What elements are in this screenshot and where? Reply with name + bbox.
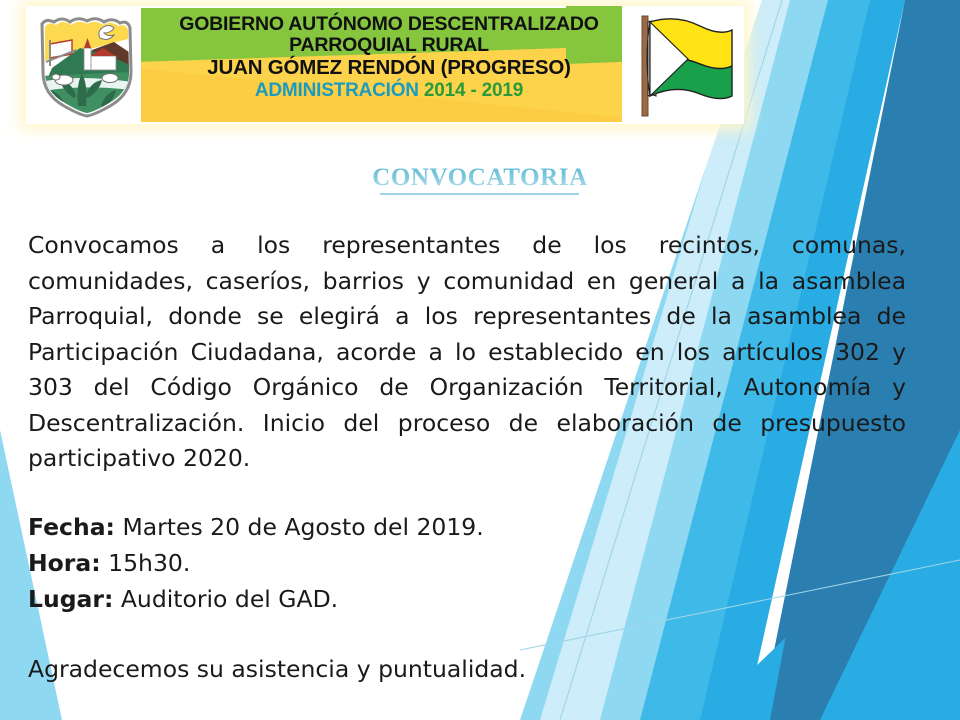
- convocation-paragraph: Convocamos a los representantes de los r…: [28, 228, 906, 477]
- detail-label-fecha: Fecha:: [28, 513, 115, 541]
- closing-line: Agradecemos su asistencia y puntualidad.: [28, 652, 728, 686]
- detail-row-lugar: Lugar: Auditorio del GAD.: [28, 581, 728, 617]
- detail-label-hora: Hora:: [28, 549, 101, 577]
- page-title: CONVOCATORIA: [0, 164, 960, 192]
- event-details: Fecha: Martes 20 de Agosto del 2019. Hor…: [28, 509, 728, 617]
- detail-value-lugar: Auditorio del GAD.: [121, 585, 338, 613]
- detail-label-lugar: Lugar:: [28, 585, 113, 613]
- detail-row-hora: Hora: 15h30.: [28, 545, 728, 581]
- detail-value-hora: 15h30.: [108, 549, 190, 577]
- detail-row-fecha: Fecha: Martes 20 de Agosto del 2019.: [28, 509, 728, 545]
- document-content: CONVOCATORIA Convocamos a los representa…: [0, 0, 960, 720]
- detail-value-fecha: Martes 20 de Agosto del 2019.: [122, 513, 483, 541]
- page-title-underline: [380, 193, 579, 195]
- slide-canvas: GOBIERNO AUTÓNOMO DESCENTRALIZADO PARROQ…: [0, 0, 960, 720]
